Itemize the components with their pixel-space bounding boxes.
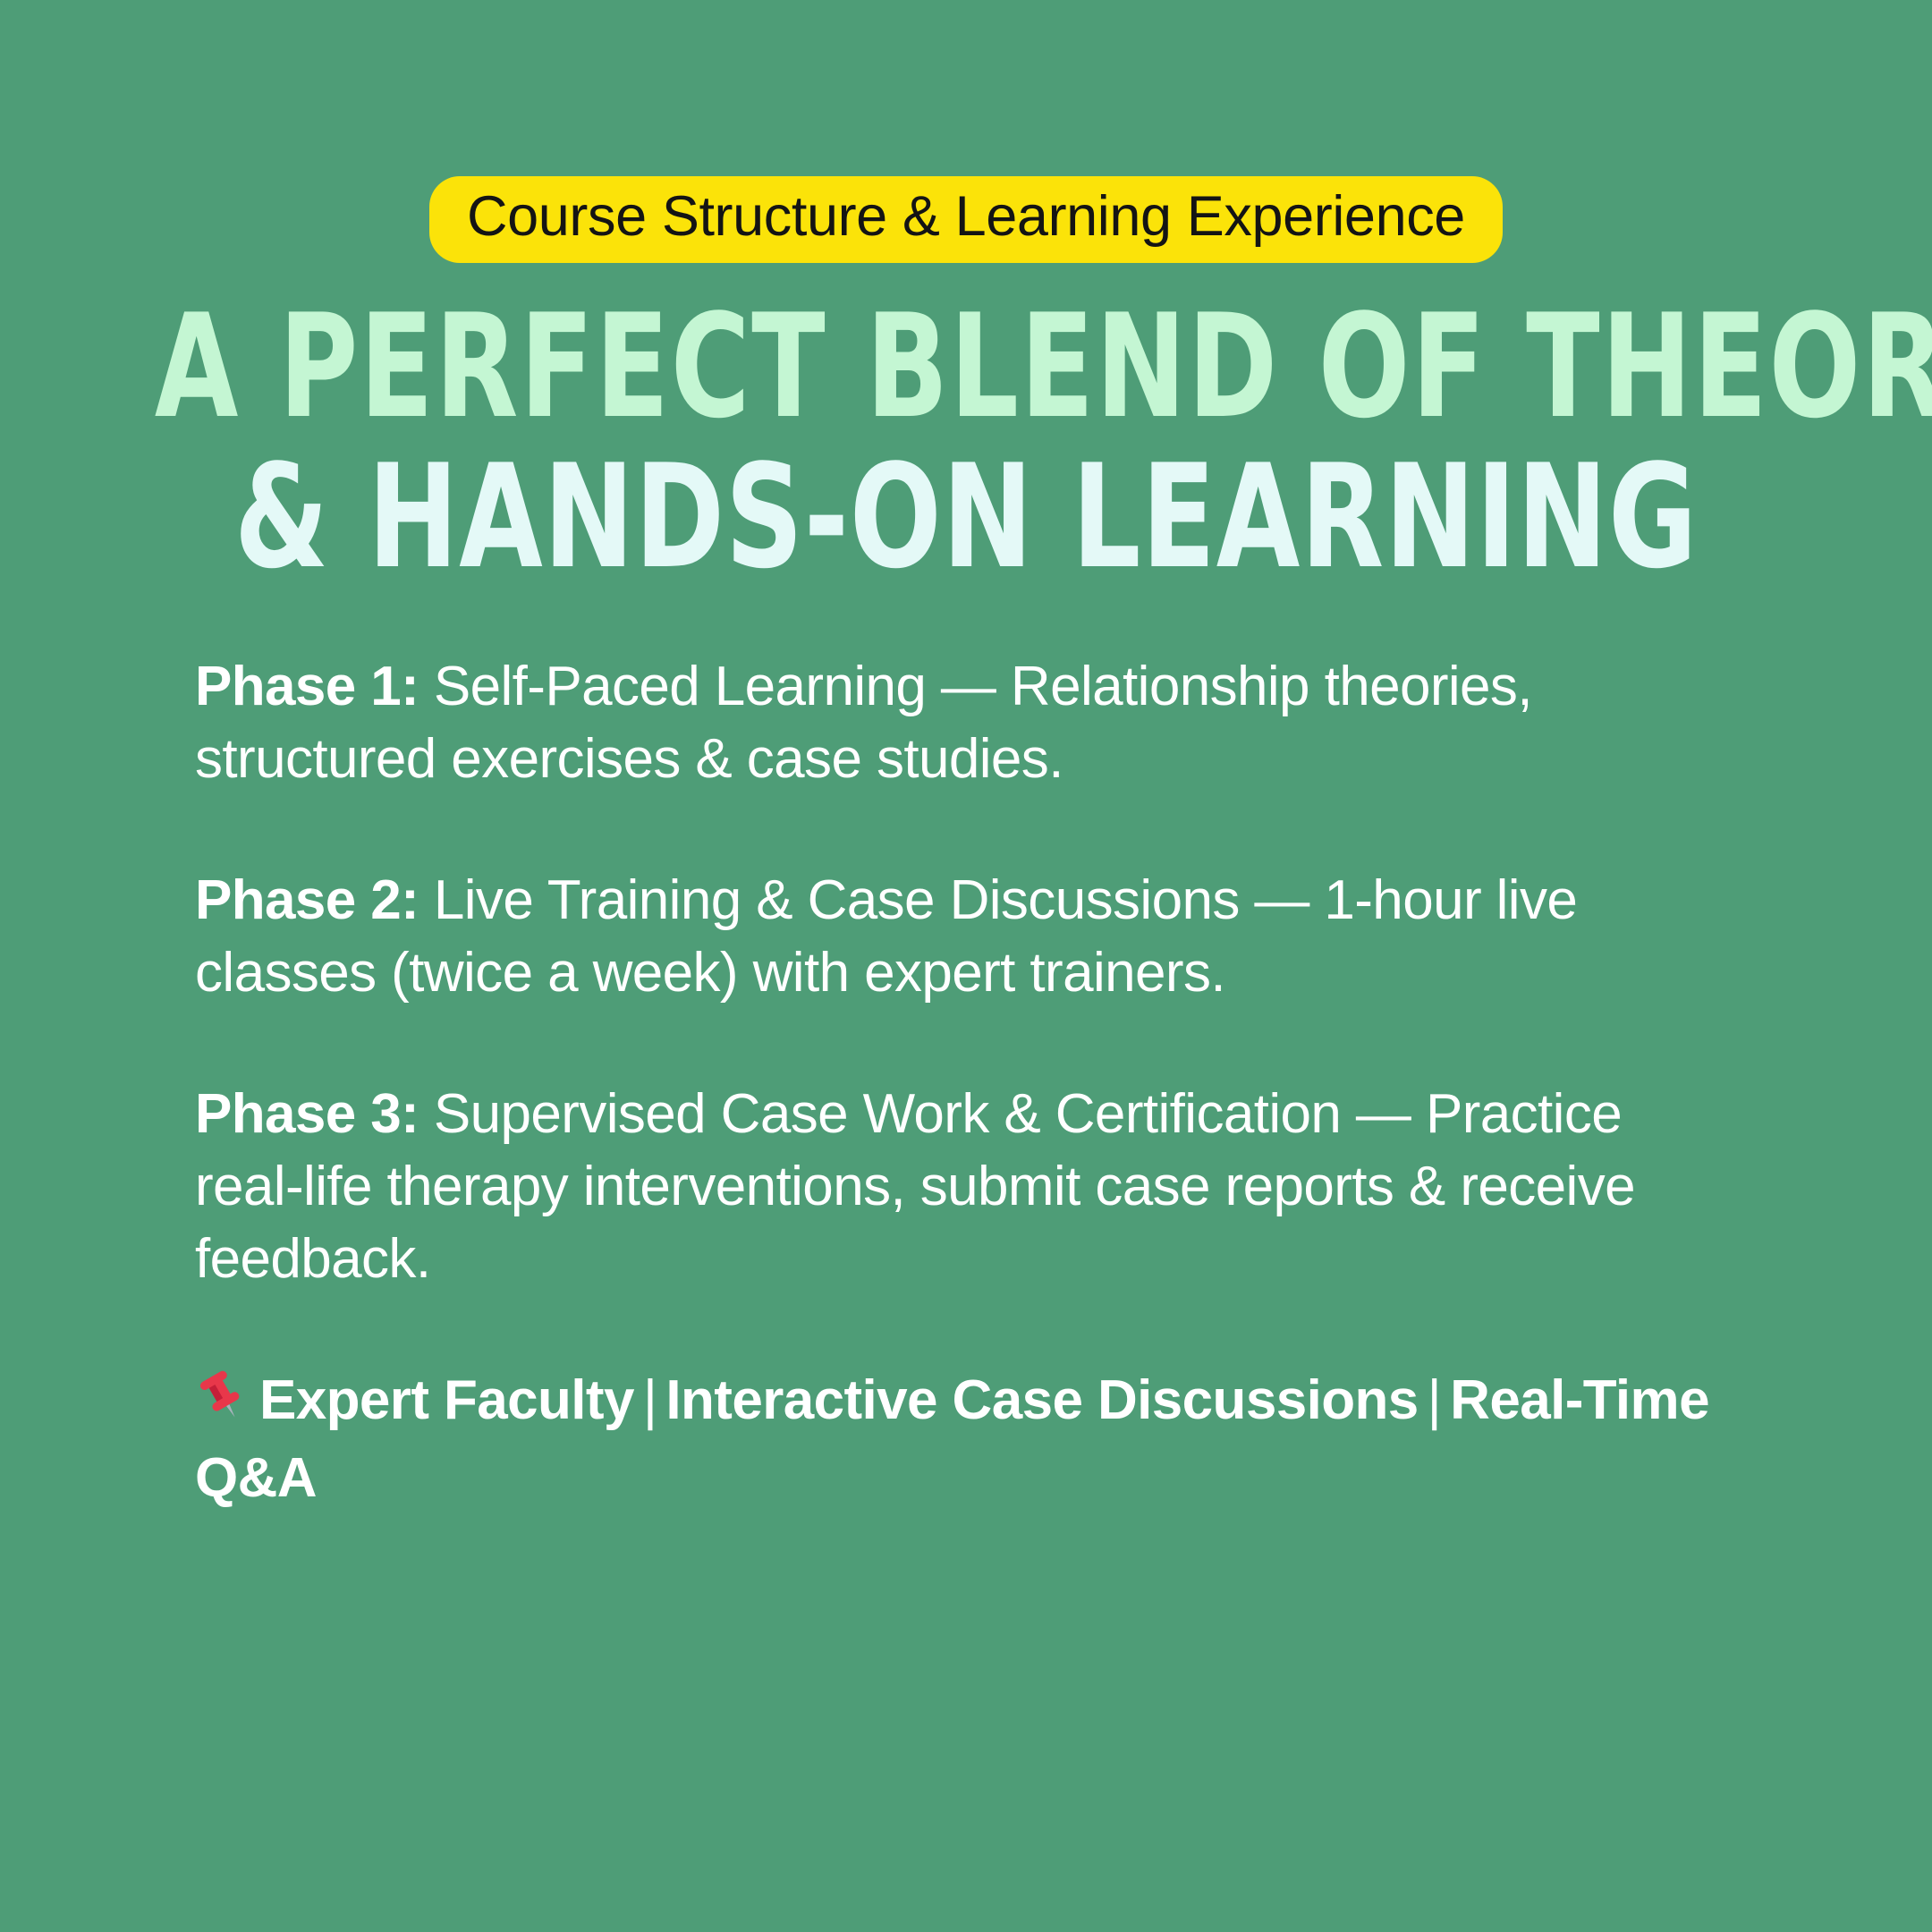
highlight-separator-2: | [1419,1369,1451,1431]
phase-1-label: Phase 1: [195,656,419,717]
phase-3-label: Phase 3: [195,1083,419,1145]
highlight-item-1: Expert Faculty [259,1369,634,1431]
slide-canvas: Course Structure & Learning Experience A… [0,0,1932,1932]
highlight-separator-1: | [634,1369,666,1431]
phase-2-label: Phase 2: [195,869,419,931]
headline: A PERFECT BLEND OF THEORY & HANDS-ON LEA… [0,295,1932,589]
headline-line-2: & HANDS-ON LEARNING [155,445,1777,589]
phase-3-paragraph: Phase 3: Supervised Case Work & Certific… [195,1079,1716,1295]
highlights-line: Expert Faculty|Interactive Case Discussi… [195,1365,1751,1514]
pushpin-icon [195,1368,250,1443]
body-copy: Phase 1: Self-Paced Learning — Relations… [195,651,1769,1514]
badge-row: Course Structure & Learning Experience [0,176,1932,263]
highlight-item-2: Interactive Case Discussions [665,1369,1418,1431]
phase-1-paragraph: Phase 1: Self-Paced Learning — Relations… [195,651,1716,795]
headline-line-1: A PERFECT BLEND OF THEORY [155,295,1777,438]
section-badge: Course Structure & Learning Experience [429,176,1503,263]
phase-2-paragraph: Phase 2: Live Training & Case Discussion… [195,865,1716,1009]
